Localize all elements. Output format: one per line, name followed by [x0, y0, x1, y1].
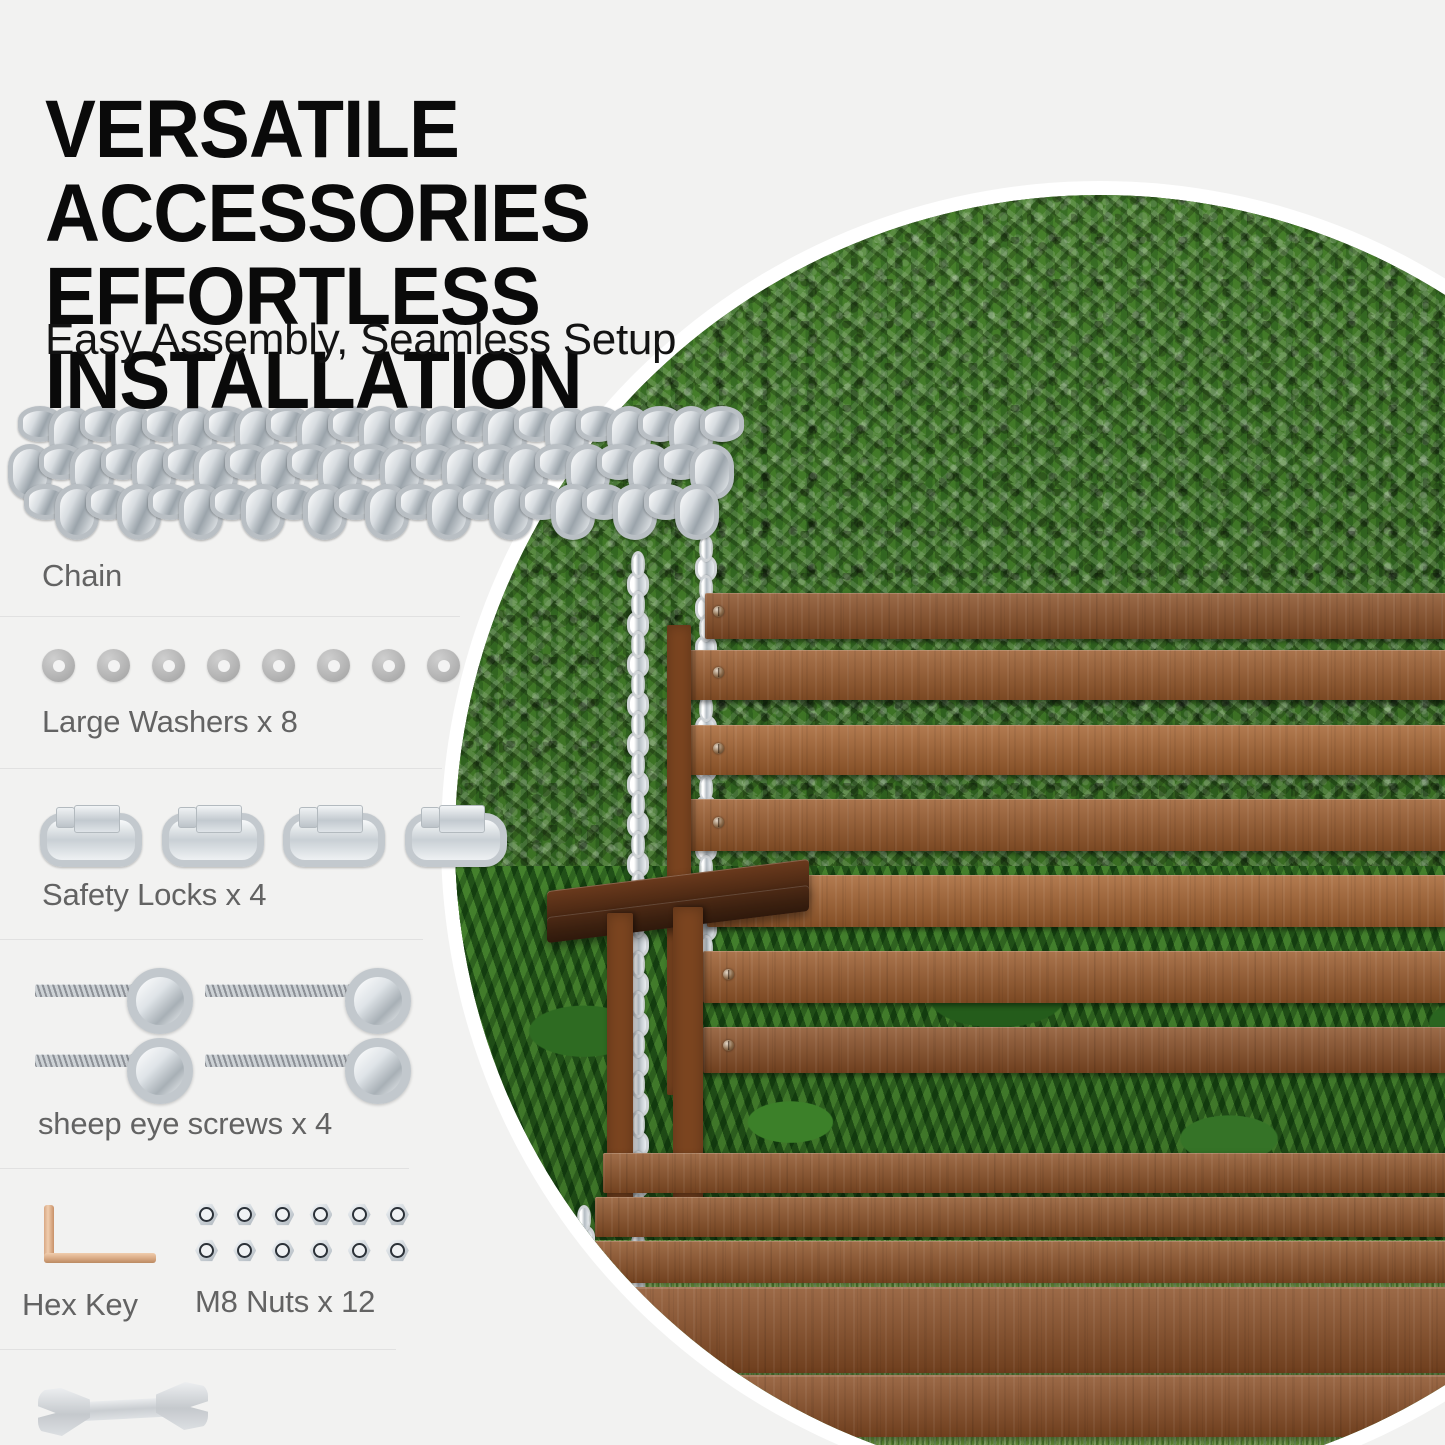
eye-screw-icon-group: [35, 968, 455, 1092]
open-end-wrench-icon: [38, 1380, 208, 1442]
seat-bottom-rail: [581, 1375, 1445, 1437]
hex-nut-icon: [195, 1203, 218, 1226]
quick-link-icon: [405, 805, 461, 857]
product-feature-card: VERSATILE ACCESSORIES EFFORTLESS INSTALL…: [0, 0, 1445, 1445]
screw: [713, 817, 724, 828]
page-subtitle: Easy Assembly, Seamless Setup: [45, 315, 676, 365]
accessory-list: Chain Large Washers x 8: [0, 400, 460, 1445]
screw: [723, 969, 734, 980]
seat-slat: [603, 1153, 1445, 1193]
list-item: Safety Locks x 4: [0, 769, 460, 913]
list-item-label: Safety Locks x 4: [42, 877, 460, 913]
m8-nuts-group: M8 Nuts x 12: [195, 1179, 410, 1320]
hanging-chain-lower: [573, 1205, 589, 1365]
hex-key-group: Hex Key: [0, 1179, 195, 1323]
seat-slat: [587, 1241, 1445, 1283]
washer-icon: [97, 649, 130, 682]
washer-icon: [262, 649, 295, 682]
hex-nut-icon: [195, 1239, 218, 1262]
list-item: Large Washers x 8: [0, 617, 460, 740]
backrest-slat: [687, 650, 1445, 700]
quick-link-icon: [283, 805, 339, 857]
backrest-slat: [687, 725, 1445, 775]
hex-nut-icon: [271, 1203, 294, 1226]
list-item-label: M8 Nuts x 12: [195, 1284, 410, 1320]
list-item: sheep eye screws x 4: [0, 940, 460, 1142]
list-item-label: Large Washers x 8: [42, 704, 460, 740]
list-item: Hex Key M8 Nuts x 12: [0, 1169, 460, 1323]
washer-icon-group: [42, 649, 460, 682]
hex-nut-icon: [309, 1203, 332, 1226]
quick-link-icon-group: [40, 805, 460, 857]
washer-icon: [152, 649, 185, 682]
quick-link-icon: [162, 805, 218, 857]
screw: [607, 1313, 618, 1324]
hex-nut-icon: [386, 1203, 409, 1226]
washer-icon: [317, 649, 350, 682]
list-item-label: sheep eye screws x 4: [38, 1106, 460, 1142]
hex-nut-icon: [233, 1203, 256, 1226]
hex-nut-icon-group: [195, 1203, 410, 1262]
hex-nut-icon: [348, 1203, 371, 1226]
hex-nut-icon: [233, 1239, 256, 1262]
washer-icon: [427, 649, 460, 682]
quick-link-icon: [40, 805, 96, 857]
backrest-slat: [687, 799, 1445, 851]
backrest-slat: [705, 593, 1445, 639]
backrest-slat: [703, 951, 1445, 1003]
screw: [713, 743, 724, 754]
screw: [607, 1420, 618, 1431]
hex-nut-icon: [348, 1239, 371, 1262]
seat-slat: [595, 1197, 1445, 1237]
washer-icon: [372, 649, 405, 682]
hex-nut-icon: [309, 1239, 332, 1262]
list-item: Open-end Wrench: [0, 1350, 460, 1445]
screw: [713, 667, 724, 678]
washer-icon: [207, 649, 240, 682]
washer-icon: [42, 649, 75, 682]
backrest-slat: [703, 1027, 1445, 1073]
hex-key-icon: [22, 1199, 172, 1271]
list-item-label: Chain: [42, 558, 460, 594]
backrest-slat: [707, 875, 1445, 927]
headline-line-1: VERSATILE ACCESSORIES: [45, 84, 590, 259]
list-item-label: Hex Key: [22, 1287, 195, 1323]
hex-nut-icon: [271, 1239, 294, 1262]
screw: [723, 1040, 734, 1051]
page-title: VERSATILE ACCESSORIES EFFORTLESS INSTALL…: [45, 88, 994, 423]
list-item: Chain: [0, 400, 460, 594]
screw: [713, 606, 724, 617]
seat-front-apron: [581, 1287, 1445, 1373]
hex-nut-icon: [386, 1239, 409, 1262]
screw: [607, 1393, 618, 1404]
